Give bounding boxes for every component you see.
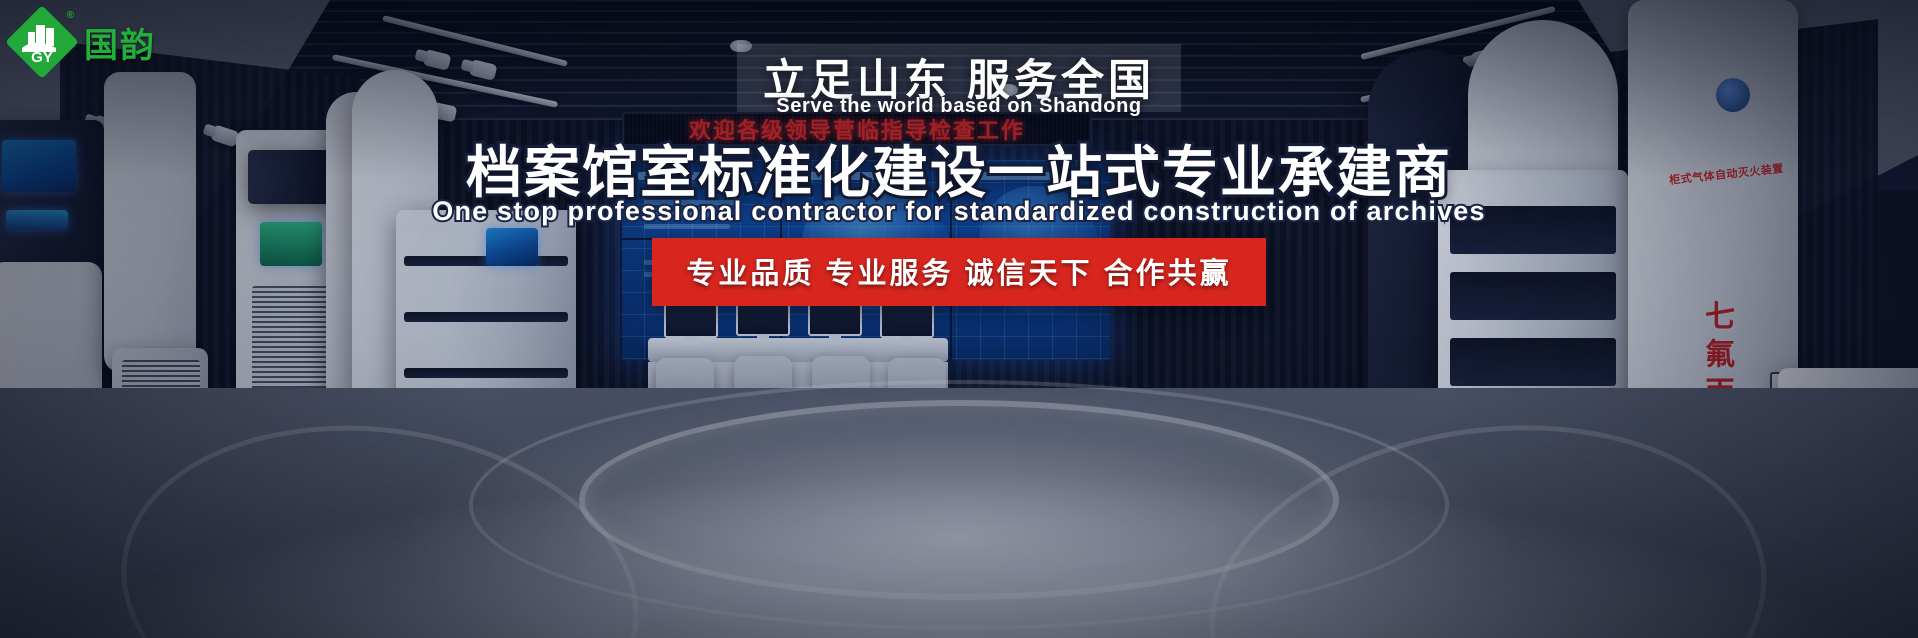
svg-text:GY: GY bbox=[31, 49, 53, 66]
hero-banner: 欢迎各级领导菅临指导检查工作 柜式气体自动灭火装置 七氟丙烷 bbox=[0, 0, 1918, 638]
gy-diamond-building-logo-icon: GY ® bbox=[8, 8, 76, 76]
kicker-en-row: Serve the world based on Shandong bbox=[0, 95, 1918, 118]
hero-text-overlay: 立足山东 服务全国 Serve the world based on Shand… bbox=[0, 0, 1918, 638]
hero-cta-banner[interactable]: 专业品质 专业服务 诚信天下 合作共赢 bbox=[652, 238, 1265, 306]
cta-row: 专业品质 专业服务 诚信天下 合作共赢 bbox=[0, 238, 1918, 306]
logo-brand-name: 国韵 bbox=[84, 18, 156, 67]
site-logo[interactable]: GY ® 国韵 bbox=[8, 8, 156, 76]
kicker-en: Serve the world based on Shandong bbox=[776, 95, 1141, 117]
registered-trademark-icon: ® bbox=[67, 10, 74, 21]
hero-subheadline-en: One stop professional contractor for sta… bbox=[432, 196, 1485, 227]
subheadline-row: One stop professional contractor for sta… bbox=[0, 196, 1918, 227]
